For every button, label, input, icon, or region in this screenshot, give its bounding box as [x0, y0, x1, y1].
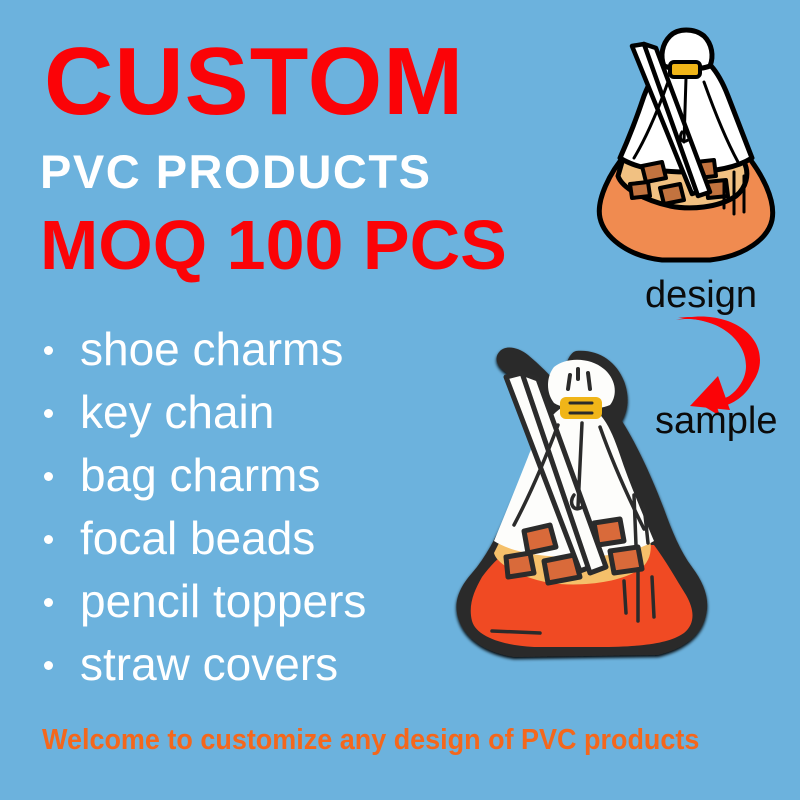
list-item-label: bag charms — [80, 449, 320, 501]
list-item: pencil toppers — [38, 570, 508, 633]
moq-headline: MOQ 100 PCS — [40, 210, 507, 280]
design-artwork-illustration — [586, 22, 786, 278]
sample-pvc-charm-illustration — [448, 345, 718, 695]
list-item-label: focal beads — [80, 512, 315, 564]
page-subtitle: PVC PRODUCTS — [40, 148, 431, 195]
list-item-label: straw covers — [80, 638, 338, 690]
bullet-dot-icon — [44, 598, 53, 607]
list-item: straw covers — [38, 633, 508, 696]
page-title: CUSTOM — [44, 34, 464, 130]
list-item-label: key chain — [80, 386, 274, 438]
list-item-label: shoe charms — [80, 323, 343, 375]
bullet-dot-icon — [44, 472, 53, 481]
list-item-label: pencil toppers — [80, 575, 366, 627]
list-item: key chain — [38, 381, 508, 444]
design-label: design — [645, 276, 757, 314]
feature-list: shoe charms key chain bag charms focal b… — [38, 318, 508, 696]
list-item: bag charms — [38, 444, 508, 507]
bullet-dot-icon — [44, 535, 53, 544]
list-item: focal beads — [38, 507, 508, 570]
poster-canvas: CUSTOM PVC PRODUCTS MOQ 100 PCS shoe cha… — [0, 0, 800, 800]
list-item: shoe charms — [38, 318, 508, 381]
footer-tagline: Welcome to customize any design of PVC p… — [42, 726, 699, 755]
bullet-dot-icon — [44, 409, 53, 418]
bullet-dot-icon — [44, 346, 53, 355]
bullet-dot-icon — [44, 661, 53, 670]
